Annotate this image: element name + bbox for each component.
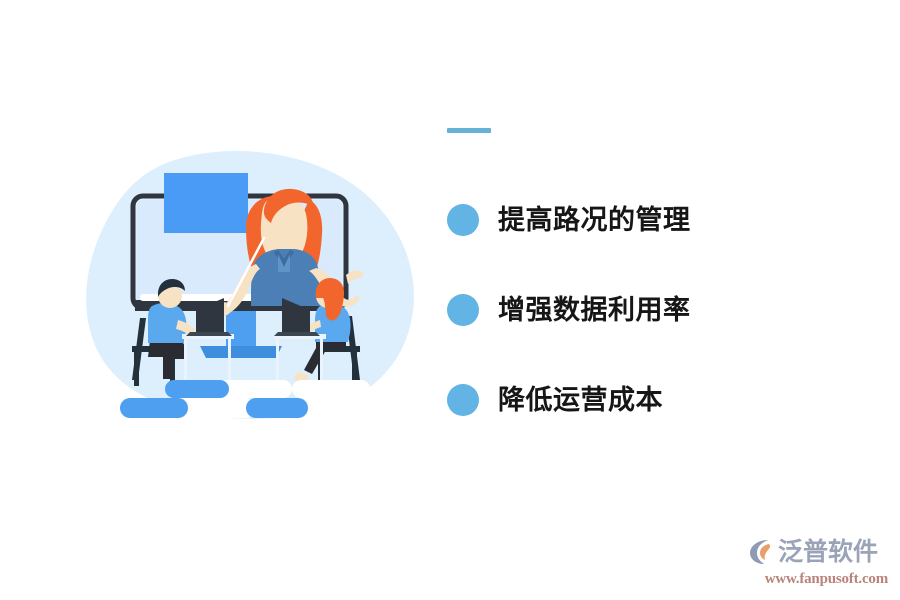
bullet-dot-icon [447, 384, 479, 416]
book-lower-blue [120, 398, 188, 418]
desk-left-leg1 [184, 339, 187, 383]
presentation-board [164, 173, 248, 233]
desk-right-leg2 [320, 339, 323, 383]
bullet-label-1: 提高路况的管理 [498, 207, 691, 234]
desk-right-leg1 [276, 339, 279, 383]
monitor-base [200, 346, 282, 358]
bullet-dot-icon [447, 204, 479, 236]
desk-left-leg2 [228, 339, 231, 383]
bullet-dot-icon [447, 294, 479, 326]
laptop-right-base [274, 332, 320, 336]
fanpu-logo-icon [746, 537, 776, 567]
book-lower-blue2 [246, 398, 308, 418]
watermark-brand-name: 泛普软件 [778, 540, 878, 565]
slide-canvas: 提高路况的管理 增强数据利用率 降低运营成本 泛普软件 www.fanpusof… [0, 0, 900, 600]
book-upper-white2 [292, 380, 370, 398]
watermark-brand-row: 泛普软件 [746, 534, 888, 570]
bullet-label-2: 增强数据利用率 [498, 297, 691, 324]
bullet-item-2: 增强数据利用率 [447, 265, 847, 355]
content-column: 提高路况的管理 增强数据利用率 降低运营成本 [447, 128, 847, 445]
laptop-left-base [186, 332, 232, 336]
watermark-url: www.fanpusoft.com [746, 571, 888, 588]
book-upper-blue [165, 380, 229, 398]
accent-bar [447, 128, 491, 133]
chair-left-leg1 [134, 352, 139, 386]
watermark: 泛普软件 www.fanpusoft.com [746, 534, 888, 592]
online-classroom-illustration [78, 148, 428, 423]
bullet-item-1: 提高路况的管理 [447, 175, 847, 265]
bullet-label-3: 降低运营成本 [498, 387, 663, 414]
bullet-item-3: 降低运营成本 [447, 355, 847, 445]
bullet-list: 提高路况的管理 增强数据利用率 降低运营成本 [447, 175, 847, 445]
